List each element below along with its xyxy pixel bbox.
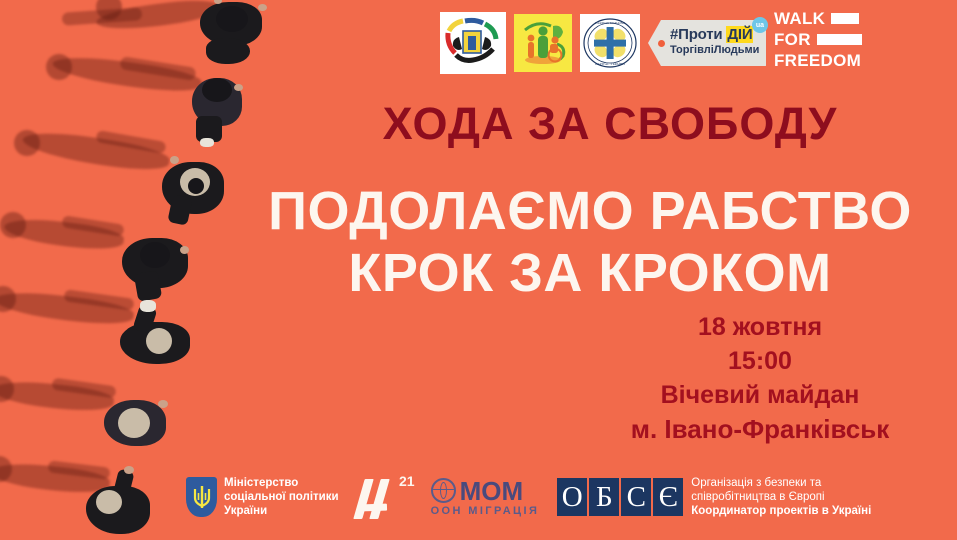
wff-word-walk: WALK <box>774 8 825 29</box>
poster-canvas: CARITAS UKRAINE КАРІТАС УКРАЇНИ #Проти Д… <box>0 0 957 540</box>
campaign-tag-logo: #Проти ДІЙ ТоргівліЛюдьми ua <box>648 18 766 68</box>
tag-highlight-word: ДІЙ <box>726 26 753 43</box>
osce-letter: О <box>557 478 587 516</box>
osce-letter-boxes: О Б С Є <box>557 478 683 516</box>
iom-wordmark-row: МОМ <box>431 478 540 504</box>
caritas-cross-logo: CARITAS UKRAINE КАРІТАС УКРАЇНИ <box>580 14 640 72</box>
tag-ua-badge: ua <box>752 17 768 33</box>
ministry-of-social-policy-logo: Міністерство соціальної політики України <box>186 476 339 518</box>
osce-letter: Є <box>653 478 683 516</box>
osce-letter: Б <box>589 478 619 516</box>
municipality-emblem-icon <box>443 15 503 71</box>
poster-subtitle-walk-for-freedom: ХОДА ЗА СВОБОДУ <box>300 100 920 148</box>
svg-text:КАРІТАС УКРАЇНИ: КАРІТАС УКРАЇНИ <box>595 61 625 66</box>
ministry-line-3: України <box>224 504 339 518</box>
iom-logo: МОМ ООН МІГРАЦІЯ <box>431 478 540 517</box>
family-figures-icon <box>517 18 569 68</box>
wff-row-3: FREEDOM <box>774 50 872 71</box>
osce-description: Організація з безпеки та співробітництва… <box>691 476 871 518</box>
wff-word-freedom: FREEDOM <box>774 50 861 71</box>
poster-main-headline: ПОДОЛАЄМО РАБСТВО КРОК ЗА КРОКОМ <box>240 180 940 304</box>
osce-line-3: Координатор проектів в Україні <box>691 504 871 518</box>
ministry-line-2: соціальної політики <box>224 490 339 504</box>
wff-bar-1 <box>831 13 859 24</box>
event-venue: Вічевий майдан <box>600 378 920 412</box>
globe-icon <box>431 478 456 503</box>
osce-line-2: співробітництва в Європі <box>691 490 871 504</box>
tag-line-2: ТоргівліЛюдьми <box>670 44 759 56</box>
event-details: 18 жовтня 15:00 Вічевий майдан м. Івано-… <box>600 310 920 446</box>
a21-crossbar <box>360 504 386 512</box>
wff-row-2: FOR <box>774 29 872 50</box>
event-date: 18 жовтня <box>600 310 920 344</box>
trident-icon <box>192 484 212 510</box>
event-time: 15:00 <box>600 344 920 378</box>
social-services-family-logo <box>514 14 572 72</box>
iom-wordmark: МОМ <box>460 478 524 504</box>
caritas-cross-icon: CARITAS UKRAINE КАРІТАС УКРАЇНИ <box>582 17 638 69</box>
ukraine-coat-of-arms-icon <box>186 477 217 517</box>
ministry-line-1: Міністерство <box>224 476 339 490</box>
headline-line-1: ПОДОЛАЄМО РАБСТВО <box>240 180 940 242</box>
osce-logo: О Б С Є Організація з безпеки та співроб… <box>557 476 871 518</box>
tag-line-1: #Проти ДІЙ <box>670 26 753 43</box>
osce-letter: С <box>621 478 651 516</box>
osce-line-1: Організація з безпеки та <box>691 476 871 490</box>
headline-line-2: КРОК ЗА КРОКОМ <box>240 242 940 304</box>
tag-hole-dot <box>658 40 665 47</box>
wff-word-for: FOR <box>774 29 811 50</box>
municipality-coat-of-arms-logo <box>440 12 506 74</box>
top-logo-strip: CARITAS UKRAINE КАРІТАС УКРАЇНИ #Проти Д… <box>440 6 950 80</box>
walk-for-freedom-logo: WALK FOR FREEDOM <box>774 8 872 78</box>
wff-row-1: WALK <box>774 8 872 29</box>
ministry-name: Міністерство соціальної політики України <box>224 476 339 518</box>
a21-number: 21 <box>399 473 415 489</box>
bottom-logo-strip: Міністерство соціальної політики України… <box>186 466 871 528</box>
wff-bar-2 <box>817 34 862 45</box>
a21-logo: 21 <box>357 475 413 519</box>
event-city: м. Івано-Франківськ <box>600 412 920 446</box>
svg-text:CARITAS UKRAINE: CARITAS UKRAINE <box>595 21 625 25</box>
iom-subtitle: ООН МІГРАЦІЯ <box>431 505 540 517</box>
